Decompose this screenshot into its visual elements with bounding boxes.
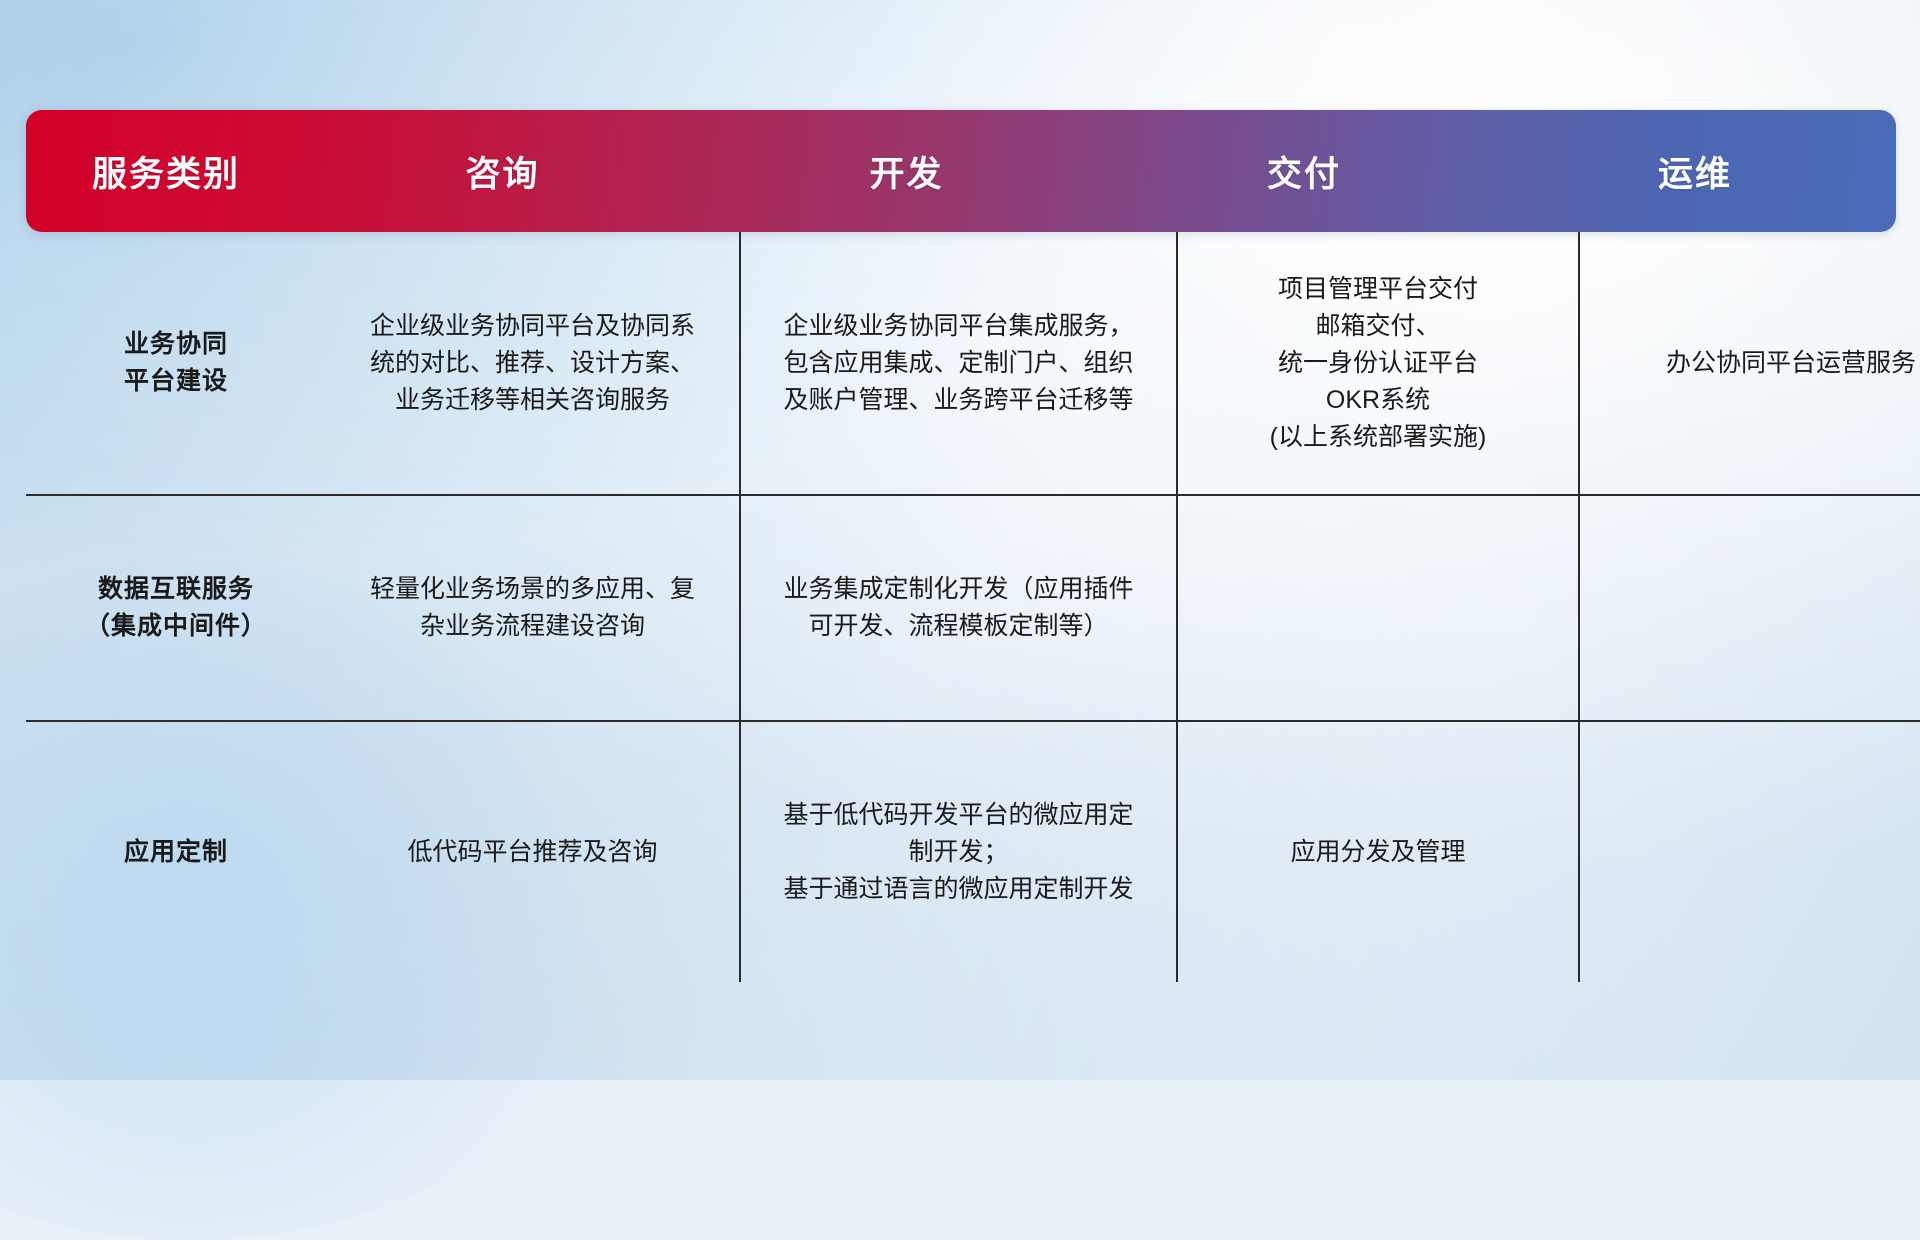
service-matrix-table: 业务协同平台建设 企业级业务协同平台及协同系统的对比、推荐、设计方案、业务迁移等… — [26, 232, 1920, 982]
cell-text: 办公协同平台运营服务 — [1590, 345, 1920, 382]
row-label-application-customization: 应用定制 — [26, 721, 326, 982]
text-line: 轻量化业务场景的多应用、复 — [336, 571, 729, 608]
cell-text: 业务集成定制化开发（应用插件可开发、流程模板定制等） — [751, 571, 1166, 645]
text-line: （集成中间件） — [36, 608, 316, 645]
cell-development-row3: 基于低代码开发平台的微应用定制开发；基于通过语言的微应用定制开发 — [740, 721, 1177, 982]
header-label: 交付 — [1267, 146, 1341, 197]
text-line: 低代码平台推荐及咨询 — [336, 834, 729, 871]
cell-text: 低代码平台推荐及咨询 — [336, 834, 729, 871]
text-line: 应用分发及管理 — [1188, 834, 1568, 871]
cell-text: 企业级业务协同平台集成服务，包含应用集成、定制门户、组织及账户管理、业务跨平台迁… — [751, 308, 1166, 419]
cell-operations-row1: 办公协同平台运营服务 — [1579, 232, 1920, 495]
table-row: 应用定制 低代码平台推荐及咨询 基于低代码开发平台的微应用定制开发；基于通过语言… — [26, 721, 1920, 982]
header-cell-operations: 运维 — [1494, 110, 1896, 232]
text-line: 统一身份认证平台 — [1188, 345, 1568, 382]
text-line: 企业级业务协同平台及协同系 — [336, 308, 729, 345]
text-line: 业务集成定制化开发（应用插件 — [751, 571, 1166, 608]
header-cell-service-category: 服务类别 — [26, 110, 306, 232]
text-line: 包含应用集成、定制门户、组织 — [751, 345, 1166, 382]
header-label: 咨询 — [465, 146, 539, 197]
header-label: 开发 — [869, 146, 943, 197]
text-line: (以上系统部署实施) — [1188, 419, 1568, 456]
table-header-row: 服务类别 咨询 开发 交付 运维 — [26, 110, 1896, 232]
cell-consulting-row2: 轻量化业务场景的多应用、复杂业务流程建设咨询 — [326, 495, 740, 721]
text-line: 数据互联服务 — [36, 571, 316, 608]
cell-operations-row3 — [1579, 721, 1920, 982]
table-row: 数据互联服务（集成中间件） 轻量化业务场景的多应用、复杂业务流程建设咨询 业务集… — [26, 495, 1920, 721]
text-line: 杂业务流程建设咨询 — [336, 608, 729, 645]
row-label-data-interconnection: 数据互联服务（集成中间件） — [26, 495, 326, 721]
table-row: 业务协同平台建设 企业级业务协同平台及协同系统的对比、推荐、设计方案、业务迁移等… — [26, 232, 1920, 495]
cell-consulting-row1: 企业级业务协同平台及协同系统的对比、推荐、设计方案、业务迁移等相关咨询服务 — [326, 232, 740, 495]
text-line: 项目管理平台交付 — [1188, 271, 1568, 308]
header-label: 服务类别 — [92, 146, 240, 197]
header-cell-development: 开发 — [699, 110, 1114, 232]
slide-canvas: 服务类别 咨询 开发 交付 运维 业务协同平台建设 企业级业务协同平台及协同系统… — [0, 0, 1920, 1080]
text-line: 平台建设 — [36, 363, 316, 400]
cell-text: 轻量化业务场景的多应用、复杂业务流程建设咨询 — [336, 571, 729, 645]
row-label-text: 应用定制 — [36, 834, 316, 871]
cell-delivery-row3: 应用分发及管理 — [1177, 721, 1579, 982]
text-line: 业务协同 — [36, 326, 316, 363]
table-body: 业务协同平台建设 企业级业务协同平台及协同系统的对比、推荐、设计方案、业务迁移等… — [26, 232, 1896, 942]
text-line: 可开发、流程模板定制等） — [751, 608, 1166, 645]
row-label-text: 数据互联服务（集成中间件） — [36, 571, 316, 645]
text-line: 邮箱交付、 — [1188, 308, 1568, 345]
text-line: 办公协同平台运营服务 — [1590, 345, 1920, 382]
text-line: 统的对比、推荐、设计方案、 — [336, 345, 729, 382]
cell-delivery-row1: 项目管理平台交付邮箱交付、统一身份认证平台OKR系统(以上系统部署实施) — [1177, 232, 1579, 495]
cell-development-row1: 企业级业务协同平台集成服务，包含应用集成、定制门户、组织及账户管理、业务跨平台迁… — [740, 232, 1177, 495]
cell-development-row2: 业务集成定制化开发（应用插件可开发、流程模板定制等） — [740, 495, 1177, 721]
text-line: 基于通过语言的微应用定制开发 — [751, 871, 1166, 908]
header-label: 运维 — [1658, 146, 1732, 197]
header-cell-delivery: 交付 — [1114, 110, 1494, 232]
text-line: 基于低代码开发平台的微应用定 — [751, 797, 1166, 834]
text-line: 应用定制 — [36, 834, 316, 871]
header-cell-consulting: 咨询 — [306, 110, 699, 232]
text-line: 及账户管理、业务跨平台迁移等 — [751, 382, 1166, 419]
text-line: 业务迁移等相关咨询服务 — [336, 382, 729, 419]
text-line: 企业级业务协同平台集成服务， — [751, 308, 1166, 345]
cell-text: 项目管理平台交付邮箱交付、统一身份认证平台OKR系统(以上系统部署实施) — [1188, 271, 1568, 456]
text-line: OKR系统 — [1188, 382, 1568, 419]
cell-consulting-row3: 低代码平台推荐及咨询 — [326, 721, 740, 982]
cell-text: 应用分发及管理 — [1188, 834, 1568, 871]
cell-operations-row2 — [1579, 495, 1920, 721]
text-line: 制开发； — [751, 834, 1166, 871]
row-label-text: 业务协同平台建设 — [36, 326, 316, 400]
cell-delivery-row2 — [1177, 495, 1579, 721]
cell-text: 企业级业务协同平台及协同系统的对比、推荐、设计方案、业务迁移等相关咨询服务 — [336, 308, 729, 419]
row-label-business-collaboration: 业务协同平台建设 — [26, 232, 326, 495]
cell-text: 基于低代码开发平台的微应用定制开发；基于通过语言的微应用定制开发 — [751, 797, 1166, 908]
